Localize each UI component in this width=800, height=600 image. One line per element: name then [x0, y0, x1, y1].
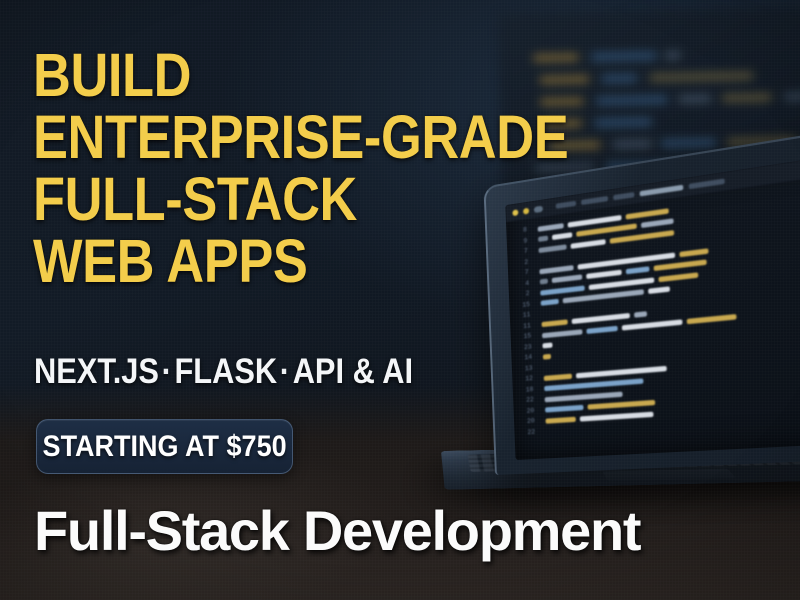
headline-line-1: BUILD [33, 44, 515, 106]
headline-line-2: ENTERPRISE-GRADE [33, 106, 515, 168]
tech-item-api-ai: API & AI [293, 352, 413, 391]
headline-line-4: WEB APPS [33, 230, 515, 292]
price-badge-label: STARTING AT $750 [42, 430, 286, 464]
headline-line-3: FULL-STACK [33, 168, 515, 230]
tech-item-nextjs: NEXT.JS [34, 352, 159, 391]
tech-item-flask: FLASK [174, 352, 277, 391]
thumbnail-canvas: 89727 42151111 1523141312 1822202022 [0, 0, 800, 600]
subtitle-separator: · [277, 352, 293, 391]
price-badge[interactable]: STARTING AT $750 [36, 419, 293, 474]
tech-stack-subtitle: NEXT.JS·FLASK·API & AI [34, 352, 413, 392]
service-title: Full-Stack Development [34, 500, 640, 562]
headline: BUILD ENTERPRISE-GRADE FULL-STACK WEB AP… [33, 44, 593, 292]
banner-content: BUILD ENTERPRISE-GRADE FULL-STACK WEB AP… [0, 0, 800, 600]
subtitle-separator: · [159, 352, 175, 391]
